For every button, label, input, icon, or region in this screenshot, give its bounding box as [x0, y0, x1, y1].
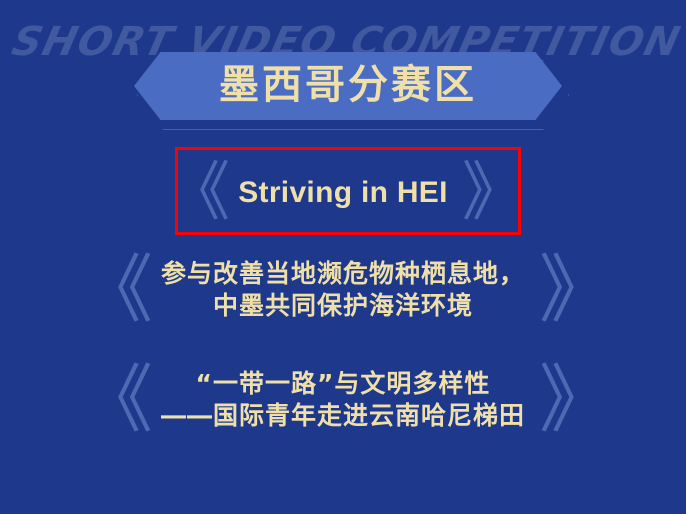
banner-title-text: 墨西哥分赛区	[219, 65, 477, 105]
presentation-slide: SHORT VIDEO COMPETITION 墨西哥分赛区 《 Strivin…	[0, 0, 686, 514]
banner-ribbon-shape: 墨西哥分赛区	[134, 52, 562, 120]
left-double-chevron-icon: 《	[79, 253, 147, 327]
marine-conservation-text: 参与改善当地濒危物种栖息地， 中墨共同保护海洋环境	[161, 258, 525, 322]
right-double-chevron-icon: 》	[539, 363, 607, 437]
text-block-marine-conservation[interactable]: 《 参与改善当地濒危物种栖息地， 中墨共同保护海洋环境 》	[0, 248, 686, 332]
header-banner: 墨西哥分赛区	[0, 48, 686, 134]
right-double-chevron-icon: 》	[539, 253, 607, 327]
belt-and-road-text: “一带一路”与文明多样性 ――国际青年走进云南哈尼梯田	[161, 368, 525, 432]
right-double-chevron-icon: 》	[462, 161, 520, 225]
left-double-chevron-icon: 《	[166, 161, 224, 225]
text-block-belt-and-road[interactable]: 《 “一带一路”与文明多样性 ――国际青年走进云南哈尼梯田 》	[0, 355, 686, 445]
left-double-chevron-icon: 《	[79, 363, 147, 437]
striving-heading-text: Striving in HEI	[238, 174, 448, 212]
text-block-striving[interactable]: 《 Striving in HEI 》	[0, 158, 686, 228]
